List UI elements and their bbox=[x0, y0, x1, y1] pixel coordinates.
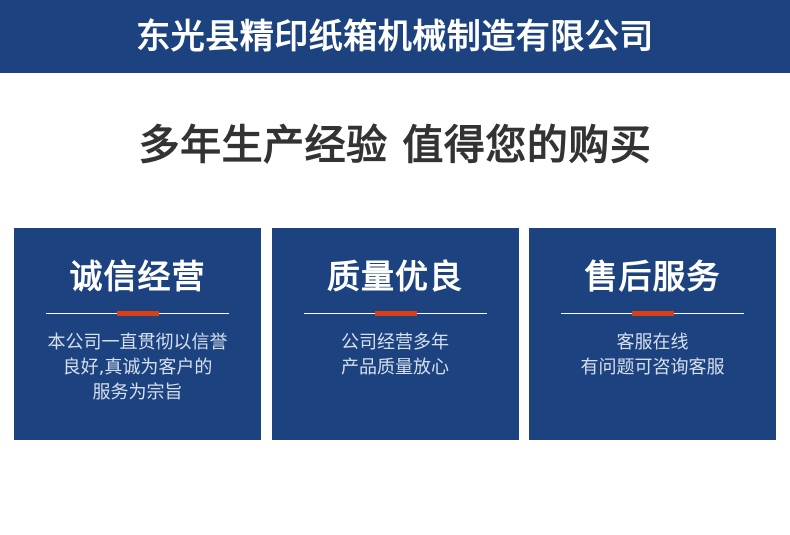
feature-card-body-line: 有问题可咨询客服 bbox=[548, 355, 758, 380]
headline-section: 多年生产经验 值得您的购买 bbox=[0, 112, 790, 178]
divider-accent-bar bbox=[632, 311, 674, 316]
feature-card-title: 诚信经营 bbox=[70, 260, 206, 293]
divider-accent-bar bbox=[117, 311, 159, 316]
feature-card-body-line: 公司经营多年 bbox=[290, 330, 500, 355]
feature-card-after-sales: 售后服务 客服在线 有问题可咨询客服 bbox=[529, 228, 776, 440]
feature-card-title: 质量优良 bbox=[327, 260, 463, 293]
feature-card-body-line: 产品质量放心 bbox=[290, 355, 500, 380]
feature-cards-row: 诚信经营 本公司一直贯彻以信誉 良好,真诚为客户的 服务为宗旨 质量优良 公司经… bbox=[14, 228, 776, 440]
feature-card-body-line: 本公司一直贯彻以信誉 bbox=[33, 330, 243, 355]
feature-card-body-line: 客服在线 bbox=[548, 330, 758, 355]
feature-card-body-line: 良好,真诚为客户的 bbox=[33, 355, 243, 380]
feature-card-body: 公司经营多年 产品质量放心 bbox=[290, 330, 500, 380]
feature-card-body-line: 服务为宗旨 bbox=[33, 380, 243, 405]
feature-card-quality: 质量优良 公司经营多年 产品质量放心 bbox=[272, 228, 519, 440]
feature-card-title: 售后服务 bbox=[585, 260, 721, 293]
header-banner: 东光县精印纸箱机械制造有限公司 bbox=[0, 0, 790, 73]
title-divider bbox=[304, 311, 487, 316]
feature-card-body: 客服在线 有问题可咨询客服 bbox=[548, 330, 758, 380]
feature-card-body: 本公司一直贯彻以信誉 良好,真诚为客户的 服务为宗旨 bbox=[33, 330, 243, 405]
title-divider bbox=[561, 311, 744, 316]
company-name-title: 东光县精印纸箱机械制造有限公司 bbox=[136, 20, 654, 54]
feature-card-integrity: 诚信经营 本公司一直贯彻以信誉 良好,真诚为客户的 服务为宗旨 bbox=[14, 228, 261, 440]
title-divider bbox=[46, 311, 229, 316]
page-headline: 多年生产经验 值得您的购买 bbox=[139, 125, 652, 166]
divider-accent-bar bbox=[375, 311, 417, 316]
